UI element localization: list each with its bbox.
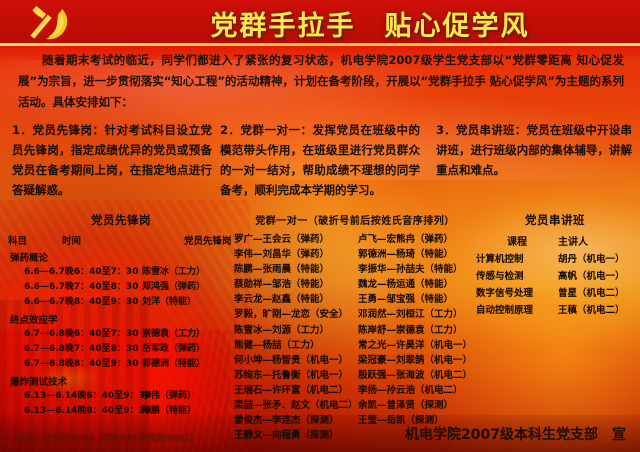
slot-person: 崇德袁（工力） [142, 327, 205, 342]
slot-person: 岳军政（弹药） [142, 342, 205, 357]
pair-left: 苏绚东—托鲁衡（机电一） [234, 368, 358, 383]
signature-line: 机电学院2007级本科生党支部 宣 [405, 424, 626, 444]
pair-right: 余凯—曾泽贤（探测） [358, 398, 476, 413]
slot-person: 郑鸿强（弹药） [142, 280, 205, 295]
table-row: 传感与检测高帆（机电一） [476, 268, 634, 285]
pair-left: 陈雪冰—刘源（工力） [234, 323, 358, 338]
slot-person: 陈雪冰（工力） [142, 265, 205, 280]
table-row: 罗广—王会云（弹药）卢飞—宏熊冉（弹药） [234, 232, 476, 247]
table-row: 数字信号处理曾星（机电二） [476, 285, 634, 302]
table-row: 陈鹏—张雨晨（特能）李振华—孙喆夫（特能） [234, 262, 476, 277]
pair-left: 熊健—杨喆（工力） [234, 338, 358, 353]
plan-columns: 1．党员先锋岗：针对考试科目设立党员先锋岗，指定成绩优异的党员或预备党员在备考期… [12, 120, 632, 200]
table-row: 6.7—6.8晚6：40至7：30崇德袁（工力） [8, 327, 234, 342]
table-row: 蔡勋祥—邹浩（特能）魏龙—杨运通（特能） [234, 277, 476, 292]
intro-paragraph: 随着期末考试的临近，同学们都进入了紧张的复习状态，机电学院2007级学生党支部以… [18, 50, 624, 113]
plan-item-pioneer: 1．党员先锋岗：针对考试科目设立党员先锋岗，指定成绩优异的党员或预备党员在备考期… [12, 120, 212, 200]
course-name: 数字信号处理 [476, 285, 558, 302]
page-title: 党群手拉手 贴心促学风 [110, 0, 630, 46]
slot-time: 6.6—6.7晚7：40至8：30 [24, 280, 142, 295]
column-header-course: 课程 [476, 233, 558, 248]
column-header-subject: 科目 [8, 233, 62, 247]
table-row: 6.6—6.7晚6：40至7：30陈雪冰（工力） [8, 265, 234, 280]
pair-left: 王静文—向程勇（探测） [234, 428, 358, 443]
pair-right: 邓润然—刘桓江（工力） [358, 307, 476, 322]
poster-header: 党群手拉手 贴心促学风 [0, 0, 640, 46]
speaker-name: 高帆（机电一） [558, 268, 625, 285]
slot-time: 6.7—6.8晚8：40至9：30 [24, 357, 142, 372]
table-row: 李伟—刘昌华（弹药）郭德洲—杨琦（特能） [234, 247, 476, 262]
pair-left: 李伟—刘昌华（弹药） [234, 247, 358, 262]
speaker-name: 曾星（机电二） [558, 285, 625, 302]
table-row: 自动控制原理王稹（机电二） [476, 302, 634, 319]
table-row: 陈雪冰—刘源（工力）陈岸舒—崇德袁（工力） [234, 323, 476, 338]
table-lecture-header: 课程 主讲人 [476, 233, 634, 248]
pair-right: 李振华—孙喆夫（特能） [358, 262, 476, 277]
table-row: 罗毅，旷刚—龙恋（安全）邓润然—刘桓江（工力） [234, 307, 476, 322]
pair-right: 魏龙—杨运通（特能） [358, 277, 476, 292]
plan-item-lecture: 3．党员串讲班：党员在班级中开设串讲班，进行班级内部的集体辅导，讲解重点和难点。 [436, 120, 632, 200]
course-name: 传感与检测 [476, 268, 558, 285]
pair-right: 常之光—许昊洋（机电一） [358, 338, 476, 353]
plan-item-pairing: 2．党群一对一：发挥党员在班级中的模范带头作用，在班级里进行党员群众的一对一结对… [220, 120, 420, 200]
table-row: 苏绚东—托鲁衡（机电一）殷跃强—张海波（机电二） [234, 368, 476, 383]
schedule-tables: 党员先锋岗 科目 时间 党员先锋岗 弹药概论6.6—6.7晚6：40至7：30陈… [8, 212, 636, 437]
table-row: 何小坤—杨智贵（机电一）梁冠豪—刘翠鹄（机电一） [234, 353, 476, 368]
pair-right: 殷跃强—张海波（机电二） [358, 368, 476, 383]
table-pioneer: 党员先锋岗 科目 时间 党员先锋岗 弹药概论6.6—6.7晚6：40至7：30陈… [8, 212, 234, 437]
table-row: 熊健—杨喆（工力）常之光—许昊洋（机电一） [234, 338, 476, 353]
course-name: 自动控制原理 [476, 302, 558, 319]
hammer-and-sickle-emblem [22, 3, 88, 45]
table-row: 栾喆—张矛、赵文（机电二）余凯—曾泽贤（探测） [234, 398, 476, 413]
pair-left: 陈鹏—张雨晨（特能） [234, 262, 358, 277]
table-pioneer-header: 科目 时间 党员先锋岗 [8, 233, 234, 247]
table-row: 6.13—6.14晚6：40至9：30李伟（弹药） [8, 389, 234, 404]
pair-right: 卢飞—宏熊冉（弹药） [358, 232, 476, 247]
slot-person: 刘洋（特能） [142, 295, 196, 310]
pair-right: 王勇—邹宝强（特能） [358, 292, 476, 307]
slot-person: 郭德洲（特能） [142, 357, 205, 372]
table-pairs: 党群一对一（破折号前后按姓氏音序排列） 罗广—王会云（弹药）卢飞—宏熊冉（弹药）… [234, 212, 476, 437]
pair-left: 栾喆—张矛、赵文（机电二） [234, 398, 358, 413]
pair-right: 李扬—孙云浩（机电二） [358, 383, 476, 398]
table-pairs-body: 罗广—王会云（弹药）卢飞—宏熊冉（弹药）李伟—刘昌华（弹药）郭德洲—杨琦（特能）… [234, 232, 476, 443]
slot-time: 6.7—6.8晚6：40至7：30 [24, 327, 142, 342]
table-row: 6.7—6.8晚7：40至8：30岳军政（弹药） [8, 342, 234, 357]
table-row: 李云龙—赵鑫（特能）王勇—邹宝强（特能） [234, 292, 476, 307]
slot-time: 6.6—6.7晚8：40至9：30 [24, 295, 142, 310]
subject-name: 弹药概论 [10, 250, 234, 264]
slot-person: 陈鹏（特能） [142, 404, 196, 419]
table-pioneer-body: 弹药概论6.6—6.7晚6：40至7：30陈雪冰（工力）6.6—6.7晚7：40… [8, 250, 234, 419]
column-header-time: 时间 [62, 233, 184, 247]
table-row: 6.6—6.7晚8：40至9：30刘洋（特能） [8, 295, 234, 310]
table-row: 计算机控制胡丹（机电一） [476, 251, 634, 268]
slot-time: 6.13—6.14晚6：40至9：30 [24, 389, 142, 404]
table-pioneer-title: 党员先锋岗 [8, 212, 234, 228]
table-lecture-title: 党员串讲班 [476, 212, 634, 228]
column-header-pioneer: 党员先锋岗 [184, 233, 234, 247]
pair-left: 雷俊杰—李连杰（探测） [234, 413, 358, 428]
pair-left: 罗广—王会云（弹药） [234, 232, 358, 247]
table-pairs-title: 党群一对一（破折号前后按姓氏音序排列） [234, 212, 476, 227]
subject-name: 终点效应学 [10, 312, 234, 326]
course-name: 计算机控制 [476, 251, 558, 268]
slot-time: 6.6—6.7晚6：40至7：30 [24, 265, 142, 280]
table-row: 王瑞石—许环富（机电二）李扬—孙云浩（机电二） [234, 383, 476, 398]
pair-left: 李云龙—赵鑫（特能） [234, 292, 358, 307]
slot-time: 6.13—6.14晚8：40至9：30 [24, 404, 142, 419]
slot-person: 李伟（弹药） [142, 389, 196, 404]
table-lecture: 党员串讲班 课程 主讲人 计算机控制胡丹（机电一）传感与检测高帆（机电一）数字信… [476, 212, 634, 437]
pair-left: 蔡勋祥—邹浩（特能） [234, 277, 358, 292]
speaker-name: 王稹（机电二） [558, 302, 625, 319]
pair-left: 罗毅，旷刚—龙恋（安全） [234, 307, 358, 322]
slot-time: 6.7—6.8晚7：40至8：30 [24, 342, 142, 357]
pair-right: 梁冠豪—刘翠鹄（机电一） [358, 353, 476, 368]
subject-name: 爆炸测试技术 [10, 374, 234, 388]
place-note: 地点：信息楼5001（如5001有课则4001） [16, 431, 199, 444]
pair-right: 郭德洲—杨琦（特能） [358, 247, 476, 262]
table-row: 6.7—6.8晚8：40至9：30郭德洲（特能） [8, 357, 234, 372]
table-lecture-body: 计算机控制胡丹（机电一）传感与检测高帆（机电一）数字信号处理曾星（机电二）自动控… [476, 251, 634, 319]
column-header-speaker: 主讲人 [558, 233, 588, 248]
pair-right: 陈岸舒—崇德袁（工力） [358, 323, 476, 338]
pair-left: 王瑞石—许环富（机电二） [234, 383, 358, 398]
poster-canvas: 党群手拉手 贴心促学风 随着期末考试的临近，同学们都进入了紧张的复习状态，机电学… [0, 0, 640, 452]
pair-left: 何小坤—杨智贵（机电一） [234, 353, 358, 368]
speaker-name: 胡丹（机电一） [558, 251, 625, 268]
table-row: 6.6—6.7晚7：40至8：30郑鸿强（弹药） [8, 280, 234, 295]
table-row: 6.13—6.14晚8：40至9：30陈鹏（特能） [8, 404, 234, 419]
